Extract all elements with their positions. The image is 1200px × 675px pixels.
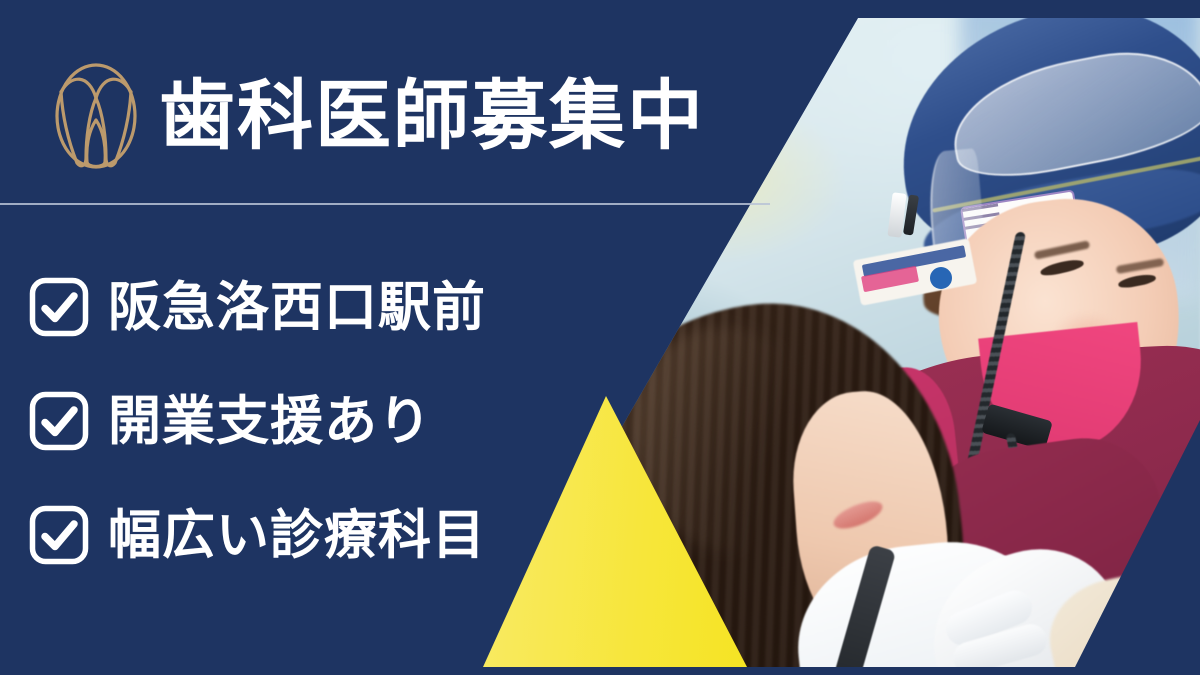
list-item-label: 阪急洛西口駅前: [108, 281, 486, 334]
list-item: 阪急洛西口駅前: [28, 276, 486, 338]
recruitment-banner: 歯科医師募集中 阪急洛西口駅前 開業支援あり: [0, 0, 1200, 675]
list-item: 幅広い診療科目: [28, 504, 486, 566]
checkbox-checked-icon: [28, 276, 90, 338]
list-item: 開業支援あり: [28, 390, 486, 452]
checkbox-checked-icon: [28, 504, 90, 566]
clinic-logo-mark-icon: [55, 62, 137, 170]
headline-row: 歯科医師募集中: [55, 62, 705, 170]
navy-bottom-strip: [0, 667, 1200, 675]
checkbox-checked-icon: [28, 390, 90, 452]
list-item-label: 幅広い診療科目: [108, 509, 486, 562]
feature-list: 阪急洛西口駅前 開業支援あり 幅広い診療科目: [28, 276, 486, 566]
header-divider: [0, 203, 770, 205]
page-title: 歯科医師募集中: [159, 78, 705, 154]
navy-top-strip: [0, 0, 1200, 18]
list-item-label: 開業支援あり: [108, 395, 432, 448]
